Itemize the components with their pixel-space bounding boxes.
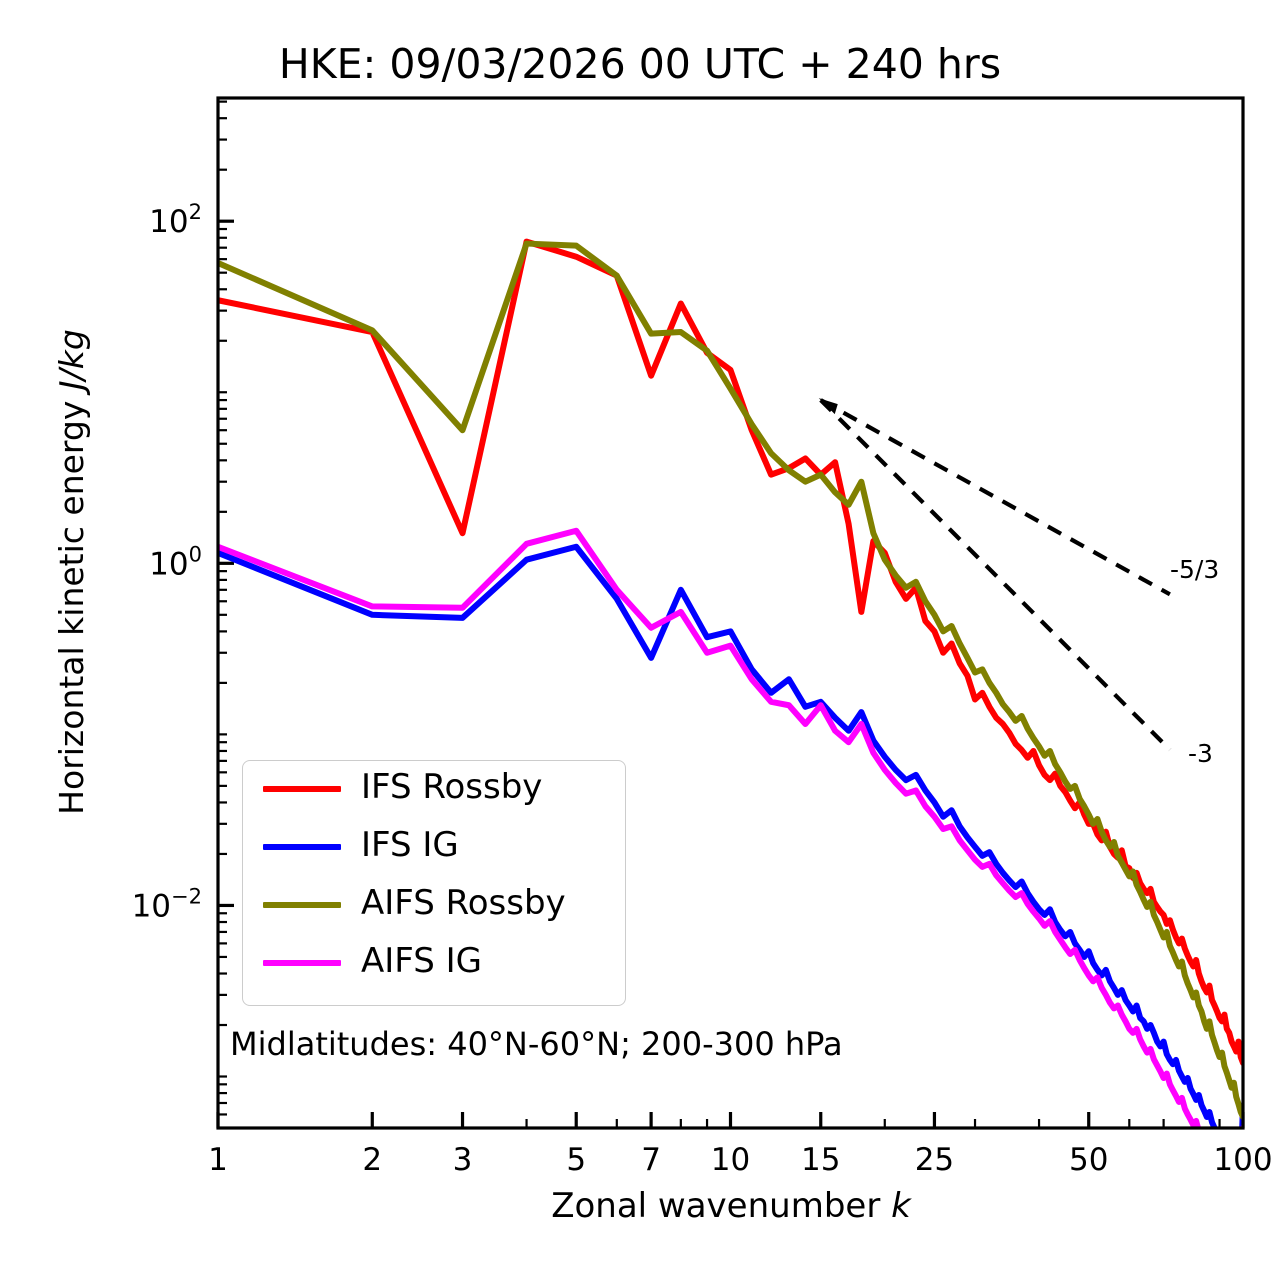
svg-text:5: 5 xyxy=(566,1142,586,1178)
svg-text:100: 100 xyxy=(1213,1142,1272,1178)
svg-text:1: 1 xyxy=(208,1142,228,1178)
legend-entry-aifs-rossby[interactable]: AIFS Rossby xyxy=(243,881,625,929)
svg-text:25: 25 xyxy=(915,1142,954,1178)
svg-text:102: 102 xyxy=(149,200,202,240)
region-annotation: Midlatitudes: 40°N-60°N; 200-300 hPa xyxy=(230,1025,843,1063)
svg-text:10−2: 10−2 xyxy=(132,884,202,924)
svg-text:7: 7 xyxy=(641,1142,661,1178)
svg-text:15: 15 xyxy=(801,1142,840,1178)
x-axis-tick-labels: 1235710152550100 xyxy=(208,1142,1272,1178)
y-axis-tick-labels: 10210010−2 xyxy=(132,200,202,924)
svg-text:100: 100 xyxy=(149,542,202,582)
legend-swatch-aifs-rossby xyxy=(263,902,341,908)
legend-label-ifs-rossby: IFS Rossby xyxy=(361,767,542,807)
svg-text:10: 10 xyxy=(711,1142,750,1178)
plot-canvas: 10210010−2 1235710152550100 -5/3-3 xyxy=(0,0,1280,1288)
svg-text:3: 3 xyxy=(453,1142,473,1178)
legend-entry-ifs-rossby[interactable]: IFS Rossby xyxy=(243,765,625,813)
slope-label-five-thirds: -5/3 xyxy=(1170,555,1219,584)
legend-swatch-ifs-rossby xyxy=(263,786,341,792)
legend-swatch-aifs-ig xyxy=(263,960,341,966)
legend-entry-aifs-ig[interactable]: AIFS IG xyxy=(243,939,625,987)
legend-label-ifs-ig: IFS IG xyxy=(361,825,459,865)
legend: IFS Rossby IFS IG AIFS Rossby AIFS IG xyxy=(242,760,626,1006)
figure: HKE: 09/03/2026 00 UTC + 240 hrs Horizon… xyxy=(0,0,1280,1288)
legend-label-aifs-ig: AIFS IG xyxy=(361,941,482,981)
svg-text:2: 2 xyxy=(362,1142,382,1178)
svg-text:50: 50 xyxy=(1069,1142,1108,1178)
legend-entry-ifs-ig[interactable]: IFS IG xyxy=(243,823,625,871)
slope-label-three: -3 xyxy=(1188,739,1213,768)
x-axis-major-ticks xyxy=(218,1112,1243,1128)
legend-swatch-ifs-ig xyxy=(263,844,341,850)
legend-label-aifs-rossby: AIFS Rossby xyxy=(361,883,566,923)
